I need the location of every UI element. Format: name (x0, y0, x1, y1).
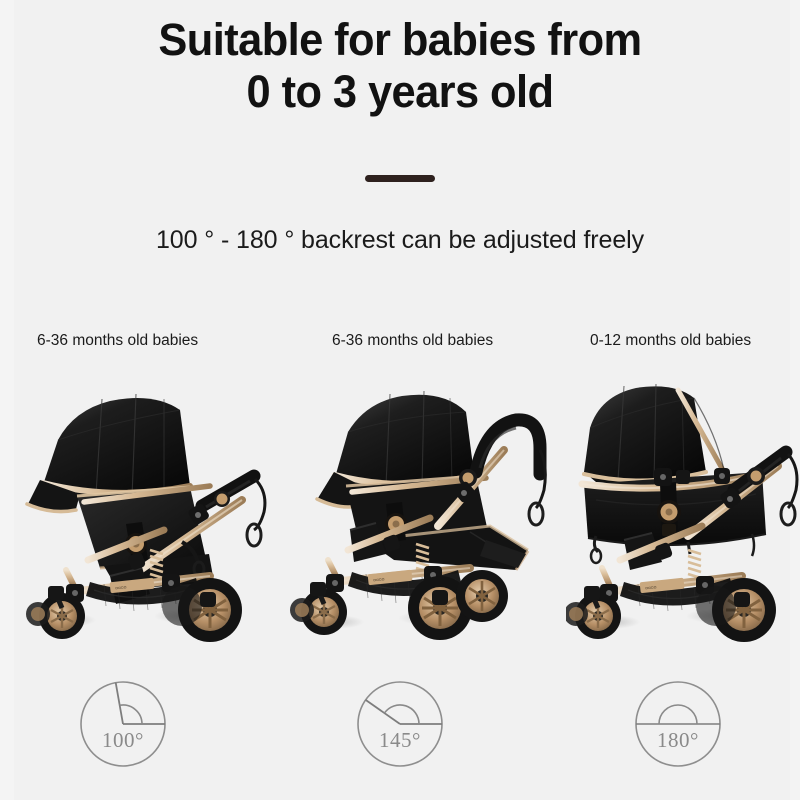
page-title-line-2: 0 to 3 years old (14, 66, 786, 118)
svg-text:▫▫▫▫: ▫▫▫▫ (115, 583, 127, 593)
angle-dial-180-label: 180° (630, 728, 726, 753)
svg-text:▫▫▫▫: ▫▫▫▫ (373, 575, 385, 585)
page-title-line-1: Suitable for babies from (158, 14, 641, 65)
stroller-panel-upright: 6-36 months old babies (14, 332, 280, 644)
angle-dial-145: 145° (352, 676, 448, 772)
panel-label-3: 0-12 months old babies (566, 332, 800, 354)
svg-text:▫▫▫▫: ▫▫▫▫ (645, 583, 657, 593)
stroller-panel-reclined: 6-36 months old babies (290, 332, 556, 644)
angle-dial-180: 180° (630, 676, 726, 772)
page-title: Suitable for babies from 0 to 3 years ol… (14, 14, 786, 118)
angle-dial-145-label: 145° (352, 728, 448, 753)
angle-dial-100-label: 100° (75, 728, 171, 753)
stroller-image-upright: ▫▫▫▫ (14, 354, 280, 644)
panel-label-1: 6-36 months old babies (14, 332, 280, 354)
panel-label-2: 6-36 months old babies (290, 332, 556, 354)
angle-dial-100: 100° (75, 676, 171, 772)
background-band-left (0, 0, 14, 800)
stroller-image-bassinet: ▫▫▫▫ (566, 354, 800, 644)
stroller-image-reclined: ▫▫▫▫ (290, 354, 556, 644)
stroller-panel-bassinet: 0-12 months old babies (566, 332, 800, 644)
title-divider (365, 175, 435, 182)
page-subtitle: 100 ° - 180 ° backrest can be adjusted f… (0, 226, 800, 255)
